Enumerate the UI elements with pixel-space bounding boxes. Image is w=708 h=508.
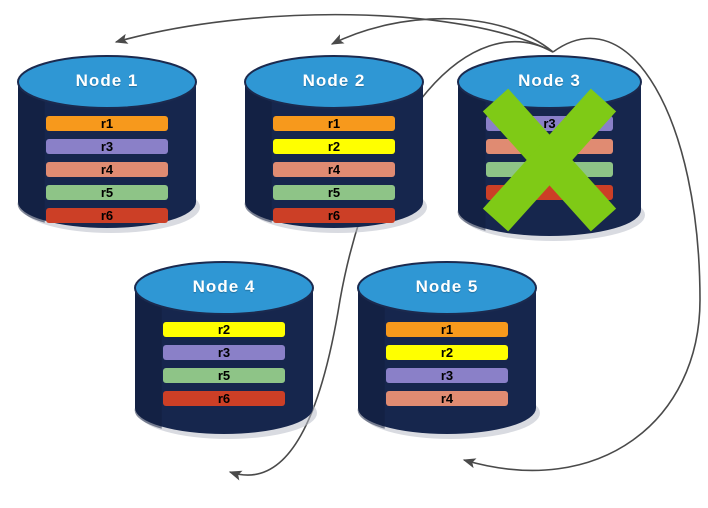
cylinder-shading — [358, 288, 385, 429]
replica-row-r1[interactable] — [46, 116, 168, 131]
arrow-node3-to-node2 — [332, 19, 553, 52]
replica-row-r4[interactable] — [273, 162, 395, 177]
database-node-1[interactable]: Node 1r1r3r4r5r6 — [18, 56, 196, 228]
replica-row-r4[interactable] — [46, 162, 168, 177]
cylinder-shading — [18, 82, 45, 223]
diagram-canvas: Node 1r1r3r4r5r6Node 2r1r2r4r5r6Node 3r3… — [0, 0, 708, 508]
database-node-5[interactable]: Node 5r1r2r3r4 — [358, 262, 536, 434]
cylinder-top — [245, 56, 423, 108]
replica-row-r1[interactable] — [273, 116, 395, 131]
replica-row-r1[interactable] — [386, 322, 508, 337]
replica-row-r2[interactable] — [163, 322, 285, 337]
cylinder-top — [135, 262, 313, 314]
replica-row-r3[interactable] — [163, 345, 285, 360]
replica-row-r5[interactable] — [46, 185, 168, 200]
database-node-3[interactable]: Node 3r3 — [458, 56, 641, 236]
replica-row-r6[interactable] — [163, 391, 285, 406]
replica-row-r3[interactable] — [46, 139, 168, 154]
replica-row-r5[interactable] — [273, 185, 395, 200]
replica-row-r2[interactable] — [273, 139, 395, 154]
cylinder-top — [18, 56, 196, 108]
database-node-4[interactable]: Node 4r2r3r5r6 — [135, 262, 313, 434]
node-failure-x-icon — [458, 56, 641, 236]
database-node-2[interactable]: Node 2r1r2r4r5r6 — [245, 56, 423, 228]
cylinder-shading — [135, 288, 162, 429]
replica-row-r6[interactable] — [46, 208, 168, 223]
replica-row-r6[interactable] — [273, 208, 395, 223]
cylinder-shading — [245, 82, 272, 223]
replica-row-r4[interactable] — [386, 391, 508, 406]
replica-row-r3[interactable] — [386, 368, 508, 383]
replica-row-r5[interactable] — [163, 368, 285, 383]
replica-row-r2[interactable] — [386, 345, 508, 360]
cylinder-top — [358, 262, 536, 314]
